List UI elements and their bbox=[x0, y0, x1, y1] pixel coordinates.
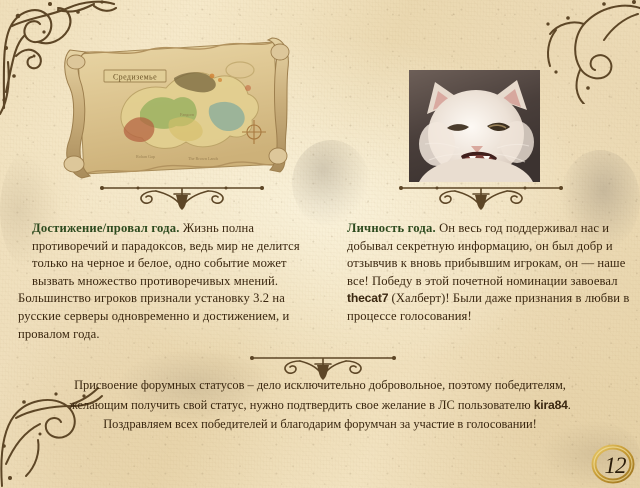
footer-line-1: Присвоение форумных статусов – дело искл… bbox=[74, 378, 566, 392]
left-column: Достижение/провал года. Жизнь полна прот… bbox=[18, 220, 318, 343]
right-column-text-after-nick: (Халберт)! Были даже признания в любви в… bbox=[347, 291, 629, 323]
right-column-heading: Личность года. bbox=[347, 221, 436, 235]
ornamental-divider bbox=[98, 182, 266, 215]
svg-text:Средиземье: Средиземье bbox=[113, 73, 157, 82]
right-column-paragraph-1: Личность года. Он весь год поддерживал н… bbox=[333, 220, 633, 326]
footer-line-2-after-nick: . bbox=[568, 398, 571, 412]
footer-line-3: Поздравляем всех победителей и благодари… bbox=[103, 417, 537, 431]
footer-line-2-before-nick: желающим получить свой статус, нужно под… bbox=[69, 398, 534, 412]
svg-text:Fangorn: Fangorn bbox=[180, 112, 195, 117]
ornamental-divider bbox=[397, 182, 565, 215]
fantasy-world-map-scroll: Средиземье Rohan Gap The Brown Lands Fan… bbox=[62, 32, 290, 184]
svg-text:Rohan Gap: Rohan Gap bbox=[136, 154, 155, 159]
svg-text:The Brown Lands: The Brown Lands bbox=[188, 156, 219, 161]
page-number: 12 bbox=[592, 448, 638, 484]
contact-nickname: kira84 bbox=[534, 398, 568, 412]
kitten-photo bbox=[409, 70, 540, 182]
winner-nickname: thecat7 bbox=[347, 291, 388, 305]
paper-stain bbox=[292, 140, 370, 226]
left-column-paragraph-1: Достижение/провал года. Жизнь полна прот… bbox=[18, 220, 318, 290]
footer-note: Присвоение форумных статусов – дело искл… bbox=[58, 376, 582, 435]
right-column: Личность года. Он весь год поддерживал н… bbox=[333, 220, 633, 326]
magazine-page: Средиземье Rohan Gap The Brown Lands Fan… bbox=[0, 0, 640, 488]
corner-flourish-icon bbox=[534, 0, 640, 109]
left-column-heading: Достижение/провал года. bbox=[32, 221, 180, 235]
left-column-paragraph-2: Большинство игроков признали установку 3… bbox=[18, 290, 318, 343]
